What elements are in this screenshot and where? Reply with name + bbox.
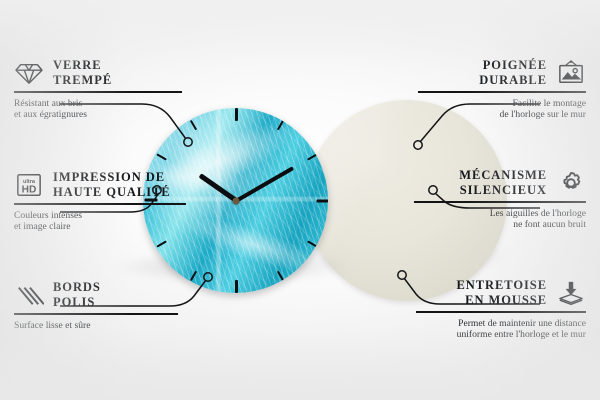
product-infographic: VERRE TREMPÉ Résistant aux bris et aux é… [0,0,600,400]
feature-description: Résistant aux bris et aux égratignures [14,98,182,121]
feature-description: Facilite le montage de l'horloge sur le … [418,98,586,121]
feature-divider [14,91,182,93]
feature-divider [14,203,186,205]
feature-title: BORDS POLIS [53,280,101,309]
svg-text:HD: HD [22,184,37,195]
ultra-hd-icon: ultra HD [14,172,44,198]
feature-impression-haute-qualite: ultra HD IMPRESSION DE HAUTE QUALITÉ Cou… [14,170,186,233]
feature-divider [418,91,586,93]
feature-title: ENTRETOISE EN MOUSSE [456,278,547,307]
feature-divider [14,313,178,315]
feature-divider [416,311,586,313]
feature-poignee-durable: POIGNÉE DURABLE Facilite le montage de l… [418,58,586,121]
picture-frame-hook-icon [556,60,586,86]
clock-tick [236,108,238,201]
feature-description: Permet de maintenir une distance uniform… [416,318,586,341]
feature-title: VERRE TREMPÉ [53,58,112,87]
clock-center-pin [232,197,239,204]
feature-title: POIGNÉE DURABLE [479,58,547,87]
feature-verre-trempe: VERRE TREMPÉ Résistant aux bris et aux é… [14,58,182,121]
feature-description: Couleurs intenses et image claire [14,210,186,233]
gear-icon [556,170,586,196]
feature-description: Les aiguilles de l'horloge ne font aucun… [414,208,586,231]
feature-description: Surface lisse et sûre [14,320,178,332]
feature-title: MÉCANISME SILENCIEUX [459,168,547,197]
feature-entretoise-en-mousse: ENTRETOISE EN MOUSSE Permet de maintenir… [416,278,586,341]
diamond-icon [14,60,44,86]
arrow-down-foam-icon [556,280,586,306]
feature-mecanisme-silencieux: MÉCANISME SILENCIEUX Les aiguilles de l'… [414,168,586,231]
feature-bords-polis: BORDS POLIS Surface lisse et sûre [14,280,178,331]
polished-edges-icon [14,282,44,308]
feature-title: IMPRESSION DE HAUTE QUALITÉ [53,170,171,199]
clock-tick [237,200,329,202]
feature-divider [414,201,586,203]
clock-tick [236,201,238,294]
